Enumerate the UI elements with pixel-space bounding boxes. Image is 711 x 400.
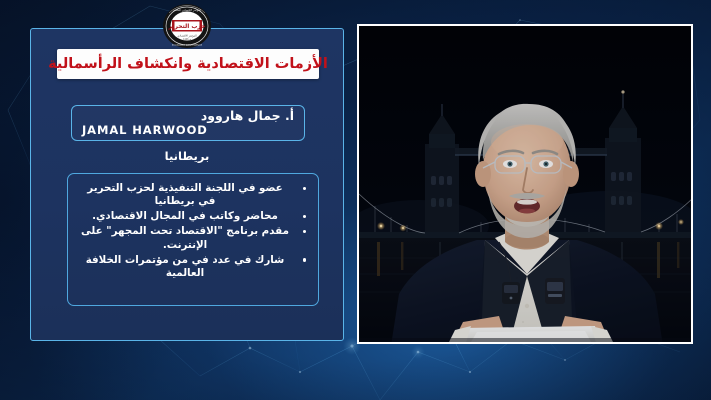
bio-text: شارك في عدد في من مؤتمرات الخلافة العالم… bbox=[86, 254, 285, 279]
speaker-country: بريطانيا bbox=[31, 149, 343, 163]
svg-text:حزب التحرير: حزب التحرير bbox=[168, 23, 206, 30]
speaker-bio-list: عضو في اللجنة التنفيذية لحزب التحرير في … bbox=[78, 182, 308, 280]
list-item: مقدم برنامج "الاقتصاد تحت المجهر" على ال… bbox=[78, 225, 308, 252]
bio-text: مقدم برنامج "الاقتصاد تحت المجهر" على ال… bbox=[81, 225, 289, 250]
bio-text: عضو في اللجنة التنفيذية لحزب التحرير في … bbox=[87, 182, 282, 207]
presentation-title-banner: الأزمات الاقتصادية وانكشاف الرأسمالية bbox=[57, 49, 319, 79]
svg-text:1446 هـ: 1446 هـ bbox=[183, 38, 192, 41]
svg-text:المؤتمر الاقتصادي العالمي: المؤتمر الاقتصادي العالمي bbox=[173, 9, 201, 12]
emblem-icon: حزب التحرير المؤتمر الاقتصادي 1446 هـ ال… bbox=[159, 3, 215, 49]
page-title: الأزمات الاقتصادية وانكشاف الرأسمالية bbox=[48, 56, 328, 72]
list-item: محاضر وكاتب في المجال الاقتصادي. bbox=[78, 210, 308, 223]
bio-text: محاضر وكاتب في المجال الاقتصادي. bbox=[92, 210, 278, 222]
video-frame bbox=[359, 26, 691, 342]
speaker-name-box: أ. جمال هاروود JAMAL HARWOOD bbox=[71, 105, 305, 141]
speaker-name-english: JAMAL HARWOOD bbox=[82, 123, 208, 137]
presentation-stage: حزب التحرير المؤتمر الاقتصادي 1446 هـ ال… bbox=[0, 0, 711, 400]
speaker-info-panel: حزب التحرير المؤتمر الاقتصادي 1446 هـ ال… bbox=[30, 28, 344, 341]
bullet-dot-icon bbox=[303, 230, 306, 233]
speaker-name-arabic: أ. جمال هاروود bbox=[201, 108, 294, 123]
bullet-dot-icon bbox=[303, 215, 306, 218]
organization-logo: حزب التحرير المؤتمر الاقتصادي 1446 هـ ال… bbox=[159, 3, 215, 49]
speaker-bio-box: عضو في اللجنة التنفيذية لحزب التحرير في … bbox=[67, 173, 319, 306]
svg-text:ECONOMIC CONFERENCE: ECONOMIC CONFERENCE bbox=[172, 44, 203, 47]
list-item: عضو في اللجنة التنفيذية لحزب التحرير في … bbox=[78, 182, 308, 209]
video-feed-panel[interactable] bbox=[357, 24, 693, 344]
list-item: شارك في عدد في من مؤتمرات الخلافة العالم… bbox=[78, 254, 308, 281]
bullet-dot-icon bbox=[303, 258, 306, 261]
bullet-dot-icon bbox=[303, 187, 306, 190]
speaker-video-image bbox=[359, 26, 693, 344]
